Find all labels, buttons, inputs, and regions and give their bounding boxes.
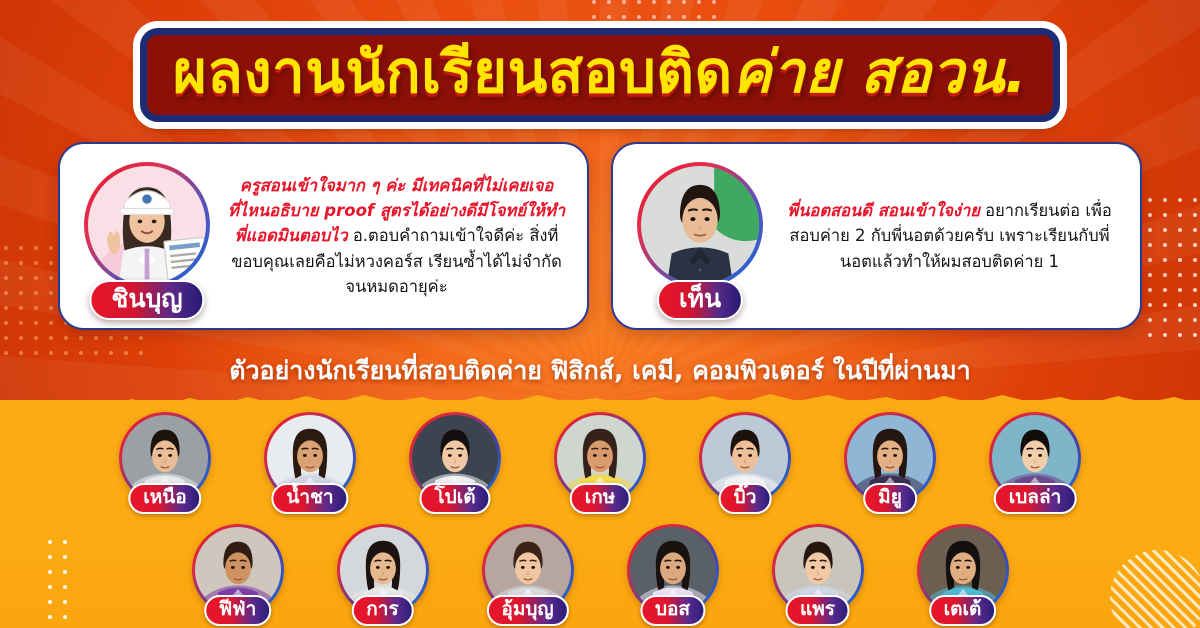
- student-name-badge: น้ำชา: [271, 483, 348, 514]
- student-name: มิยู: [878, 486, 902, 508]
- student-name-badge: เบลล่า: [994, 483, 1077, 514]
- student-card[interactable]: อุ้มบุญ: [465, 524, 591, 626]
- banner-root: ผลงานนักเรียนสอบติดค่าย สอวน.: [0, 0, 1200, 628]
- student-row-2: ฟีฟ่า การ: [0, 524, 1200, 626]
- student-name: โปเต้: [434, 486, 475, 508]
- student-name-badge: เกษ: [570, 483, 631, 514]
- student-name-badge: บอส: [640, 595, 705, 626]
- student-card[interactable]: บิ๊ว: [682, 412, 808, 514]
- student-name: น้ำชา: [286, 486, 333, 508]
- student-card[interactable]: โปเต้: [392, 412, 518, 514]
- section-subtitle: ตัวอย่างนักเรียนที่สอบติดค่าย ฟิสิกส์, เ…: [0, 358, 1200, 383]
- title-text: ผลงานนักเรียนสอบติดค่าย สอวน.: [140, 28, 1060, 122]
- student-name-badge: แพร: [785, 595, 850, 626]
- student-card[interactable]: มิยู: [827, 412, 953, 514]
- testimonial-photo-column: ชินบุญ: [72, 156, 222, 316]
- testimonial-card[interactable]: ชินบุญ ครูสอนเข้าใจมาก ๆ ค่ะ มีเทคนิคที่…: [58, 142, 589, 330]
- avatar: [637, 162, 763, 288]
- student-name: เหนือ: [143, 486, 186, 508]
- testimonial-card[interactable]: เท็น พี่นอตสอนดี สอนเข้าใจง่าย อยากเรียน…: [611, 142, 1142, 330]
- student-name: บิ๊ว: [734, 486, 757, 508]
- testimonial-cards: ชินบุญ ครูสอนเข้าใจมาก ๆ ค่ะ มีเทคนิคที่…: [0, 142, 1200, 330]
- testimonial-name-badge: เท็น: [657, 280, 743, 320]
- student-card[interactable]: การ: [320, 524, 446, 626]
- student-name-badge: โปเต้: [419, 483, 490, 514]
- student-name: บอส: [655, 598, 690, 620]
- student-photo-chinboon: [88, 166, 206, 284]
- testimonial-name-badge: ชินบุญ: [89, 280, 204, 320]
- avatar: [84, 162, 210, 288]
- student-name-badge: ฟีฟ่า: [204, 595, 272, 626]
- student-row-1: เหนือ น้ำชา: [0, 412, 1200, 514]
- student-card[interactable]: เบลล่า: [972, 412, 1098, 514]
- student-card[interactable]: บอส: [610, 524, 736, 626]
- quote-highlight: พี่นอตสอนดี สอนเข้าใจง่าย: [787, 201, 980, 220]
- testimonial-name: ชินบุญ: [111, 284, 182, 313]
- student-name: การ: [366, 598, 398, 620]
- student-name: เตเต้: [944, 598, 982, 620]
- student-name: ฟีฟ่า: [219, 598, 257, 620]
- student-name-badge: เตเต้: [929, 595, 997, 626]
- student-card[interactable]: เกษ: [537, 412, 663, 514]
- testimonial-quote: ครูสอนเข้าใจมาก ๆ ค่ะ มีเทคนิคที่ไม่เคยเ…: [222, 173, 571, 298]
- testimonial-photo-column: เท็น: [625, 156, 775, 316]
- student-card[interactable]: เหนือ: [102, 412, 228, 514]
- student-name: เกษ: [585, 486, 616, 508]
- student-gallery: เหนือ น้ำชา: [0, 412, 1200, 626]
- student-name-badge: มิยู: [863, 483, 917, 514]
- testimonial-name: เท็น: [679, 284, 721, 313]
- title-plain-part: ผลงานนักเรียนสอบติด: [173, 38, 733, 106]
- student-card[interactable]: เตเต้: [900, 524, 1026, 626]
- student-photo-ten: [641, 166, 759, 284]
- page-title: ผลงานนักเรียนสอบติดค่าย สอวน.: [0, 34, 1200, 116]
- student-name-badge: การ: [351, 595, 413, 626]
- title-italic-part: ค่าย สอวน.: [733, 38, 1028, 106]
- student-name-badge: อุ้มบุญ: [486, 595, 568, 626]
- student-name: อุ้มบุญ: [501, 598, 553, 620]
- student-name-badge: เหนือ: [128, 483, 201, 514]
- student-name: แพร: [800, 598, 835, 620]
- student-name-badge: บิ๊ว: [719, 483, 772, 514]
- student-card[interactable]: ฟีฟ่า: [175, 524, 301, 626]
- testimonial-quote: พี่นอตสอนดี สอนเข้าใจง่าย อยากเรียนต่อ เ…: [775, 198, 1124, 273]
- student-name: เบลล่า: [1009, 486, 1062, 508]
- student-card[interactable]: น้ำชา: [247, 412, 373, 514]
- student-card[interactable]: แพร: [755, 524, 881, 626]
